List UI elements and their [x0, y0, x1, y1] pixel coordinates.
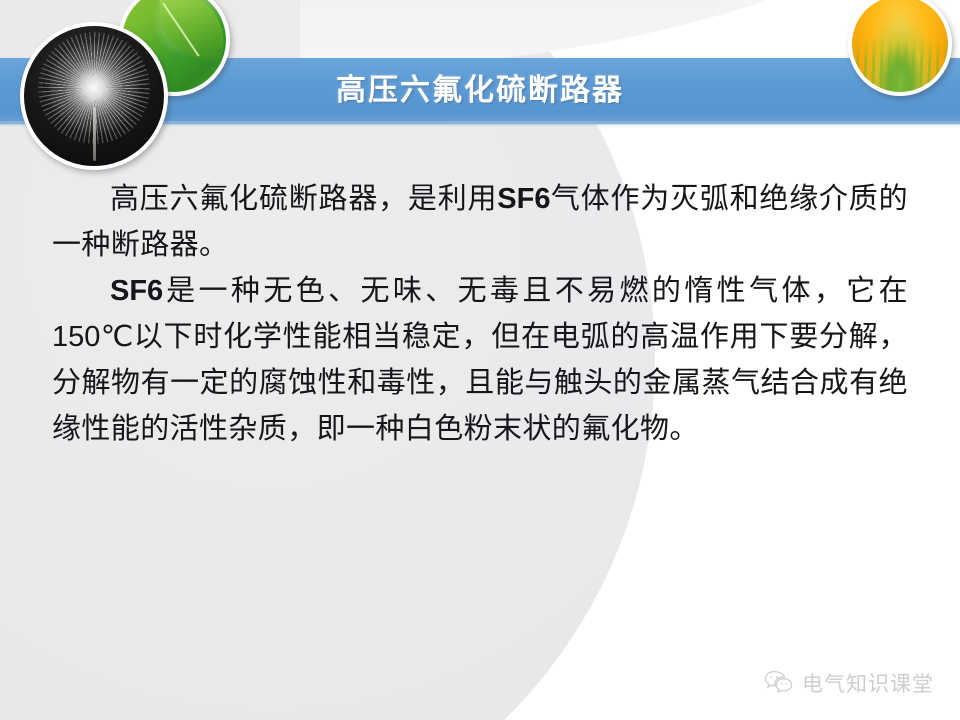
dandelion-stem: [93, 107, 96, 161]
wechat-bubbles-icon: [764, 670, 794, 696]
paragraph-definition: 高压六氟化硫断路器，是利用SF6气体作为灭弧和绝缘介质的一种断路器。: [52, 176, 908, 268]
watermark: 电气知识课堂: [764, 668, 934, 698]
watermark-label: 电气知识课堂: [802, 668, 934, 698]
temperature-value: 150℃: [52, 321, 134, 353]
paragraph-properties: SF6是一种无色、无味、无毒且不易燃的惰性气体，它在150℃以下时化学性能相当稳…: [52, 268, 908, 452]
dandelion-photo: [20, 22, 168, 170]
paragraph2-part1: 是一种无色、无味、无毒且不易燃的惰性气体，它在: [163, 275, 908, 307]
sf6-term: SF6: [110, 275, 163, 307]
sunset-photo: [848, 0, 952, 96]
leaf-blade-shape: [153, 0, 230, 63]
slide-body: 高压六氟化硫断路器，是利用SF6气体作为灭弧和绝缘介质的一种断路器。 SF6是一…: [52, 176, 908, 452]
sf6-term: SF6: [497, 183, 550, 215]
sunset-grass-shape: [852, 36, 948, 92]
paragraph2-part2: 以下时化学性能相当稳定，但在电弧的高温作用下要分解，分解物有一定的腐蚀性和毒性，…: [52, 321, 908, 445]
slide-canvas: 高压六氟化硫断路器 高压六氟化硫断路器，是利用SF6气体作为灭弧和绝缘介质的一种…: [0, 0, 960, 720]
paragraph1-lead: 高压六氟化硫断路器，是利用: [110, 183, 497, 215]
